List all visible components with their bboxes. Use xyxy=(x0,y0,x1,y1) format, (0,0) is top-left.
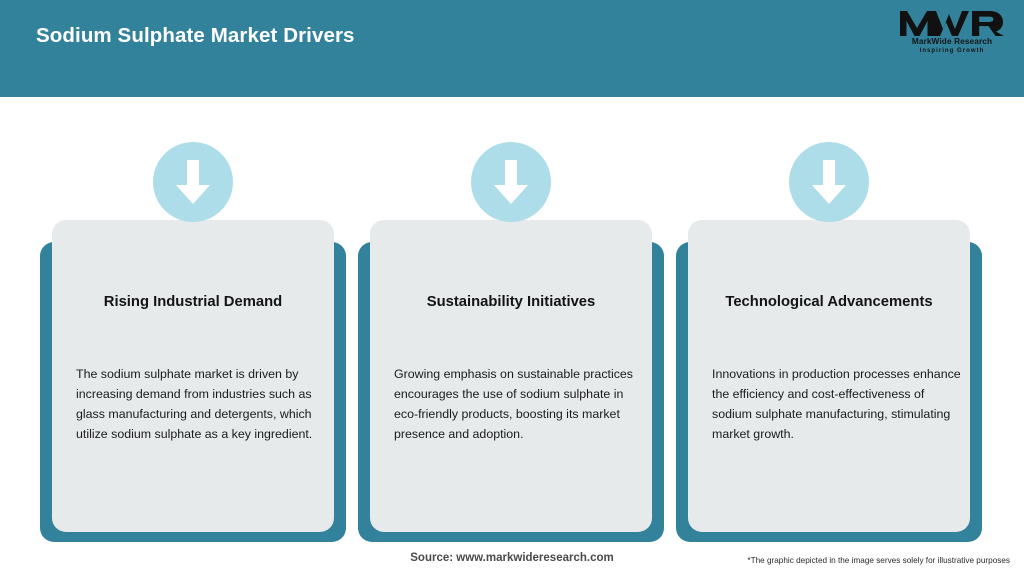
arrow-down-icon xyxy=(789,142,869,222)
card-body-text: Growing emphasis on sustainable practice… xyxy=(394,364,646,444)
drivers-card-row: Rising Industrial Demand The sodium sulp… xyxy=(0,97,1024,552)
page-header: Sodium Sulphate Market Drivers MarkWide … xyxy=(0,0,1024,97)
driver-card-3[interactable]: Technological Advancements Innovations i… xyxy=(676,142,982,542)
card-body-text: Innovations in production processes enha… xyxy=(712,364,964,444)
logo-tagline: Inspiring Growth xyxy=(897,47,1007,54)
brand-logo: MarkWide Research Inspiring Growth xyxy=(897,8,1007,60)
mwr-monogram-icon xyxy=(897,8,1007,38)
driver-card-2[interactable]: Sustainability Initiatives Growing empha… xyxy=(358,142,664,542)
disclaimer-note: *The graphic depicted in the image serve… xyxy=(747,556,1010,565)
arrow-down-icon xyxy=(471,142,551,222)
arrow-down-icon xyxy=(153,142,233,222)
card-heading: Technological Advancements xyxy=(688,294,970,310)
card-body-text: The sodium sulphate market is driven by … xyxy=(76,364,328,444)
card-heading: Sustainability Initiatives xyxy=(370,294,652,310)
logo-company-name: MarkWide Research xyxy=(897,37,1007,46)
page-title: Sodium Sulphate Market Drivers xyxy=(36,24,355,48)
card-heading: Rising Industrial Demand xyxy=(52,294,334,310)
driver-card-1[interactable]: Rising Industrial Demand The sodium sulp… xyxy=(40,142,346,542)
